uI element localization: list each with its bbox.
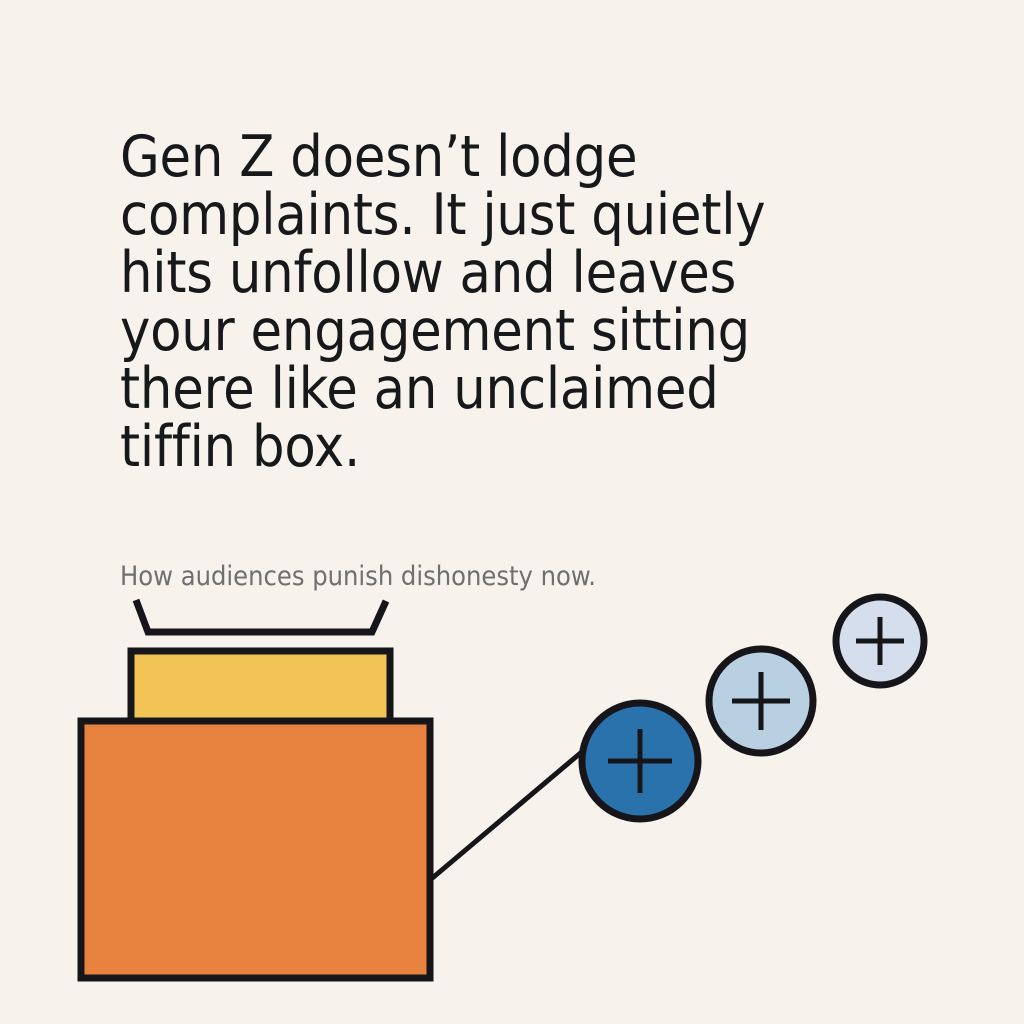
poster-canvas: Gen Z doesn’t lodge complaints. It just … (0, 0, 1024, 1024)
engagement-bubble-ghost (836, 597, 924, 685)
tiffin-box-lid (131, 651, 390, 721)
tiffin-box-body (81, 721, 430, 978)
tiffin-box-handle-icon (136, 600, 386, 632)
engagement-bubble-active (582, 703, 698, 819)
illustration (0, 0, 1024, 1024)
engagement-bubble-fading (709, 649, 813, 753)
